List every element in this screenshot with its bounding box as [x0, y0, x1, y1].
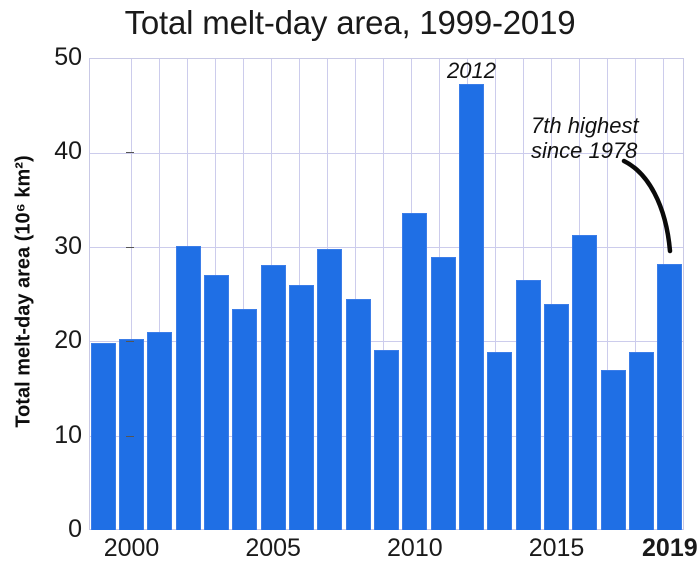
- y-tick-label-10: 10: [54, 423, 82, 448]
- peak-year-annotation: 2012: [447, 59, 496, 84]
- rank-callout-line1: 7th highest: [531, 113, 639, 138]
- bar-2004: [232, 309, 257, 530]
- bar-2009: [374, 350, 399, 530]
- bar-2014: [516, 280, 541, 530]
- bar-2019: [657, 264, 682, 530]
- y-tick-mark-10: [126, 436, 134, 437]
- bar-1999: [91, 343, 116, 530]
- bar-2001: [147, 332, 172, 530]
- bar-2010: [402, 213, 427, 530]
- y-tick-label-0: 0: [68, 517, 82, 542]
- x-tick-label-2019: 2019: [642, 536, 698, 561]
- y-tick-mark-40: [126, 152, 134, 153]
- bar-2013: [487, 352, 512, 530]
- bar-2016: [572, 235, 597, 530]
- bar-2017: [601, 370, 626, 530]
- y-axis-title: Total melt-day area (10⁶ km²): [13, 52, 36, 532]
- y-axis: 01020304050: [44, 58, 82, 530]
- x-axis: 20002005201020152019: [89, 536, 684, 570]
- chart-title: Total melt-day area, 1999-2019: [0, 4, 700, 42]
- y-tick-label-20: 20: [54, 328, 82, 353]
- y-tick-label-50: 50: [54, 45, 82, 70]
- x-tick-label-2005: 2005: [245, 536, 301, 561]
- bar-2011: [431, 257, 456, 530]
- y-tick-label-40: 40: [54, 139, 82, 164]
- x-tick-label-2010: 2010: [387, 536, 443, 561]
- x-tick-label-2000: 2000: [104, 536, 160, 561]
- bar-2015: [544, 304, 569, 530]
- bar-2005: [261, 265, 286, 530]
- bar-2003: [204, 275, 229, 530]
- rank-callout-line2: since 1978: [531, 138, 637, 163]
- chart-figure: Total melt-day area, 1999-2019 010203040…: [0, 0, 700, 587]
- x-tick-label-2015: 2015: [529, 536, 585, 561]
- bar-2012: [459, 84, 484, 530]
- bar-2008: [346, 299, 371, 530]
- y-tick-label-30: 30: [54, 234, 82, 259]
- bar-2007: [317, 249, 342, 530]
- bar-2006: [289, 285, 314, 530]
- bar-2018: [629, 352, 654, 530]
- y-tick-mark-20: [126, 341, 134, 342]
- bar-2002: [176, 246, 201, 530]
- rank-callout-annotation: 7th highestsince 1978: [531, 114, 639, 163]
- y-tick-mark-30: [126, 247, 134, 248]
